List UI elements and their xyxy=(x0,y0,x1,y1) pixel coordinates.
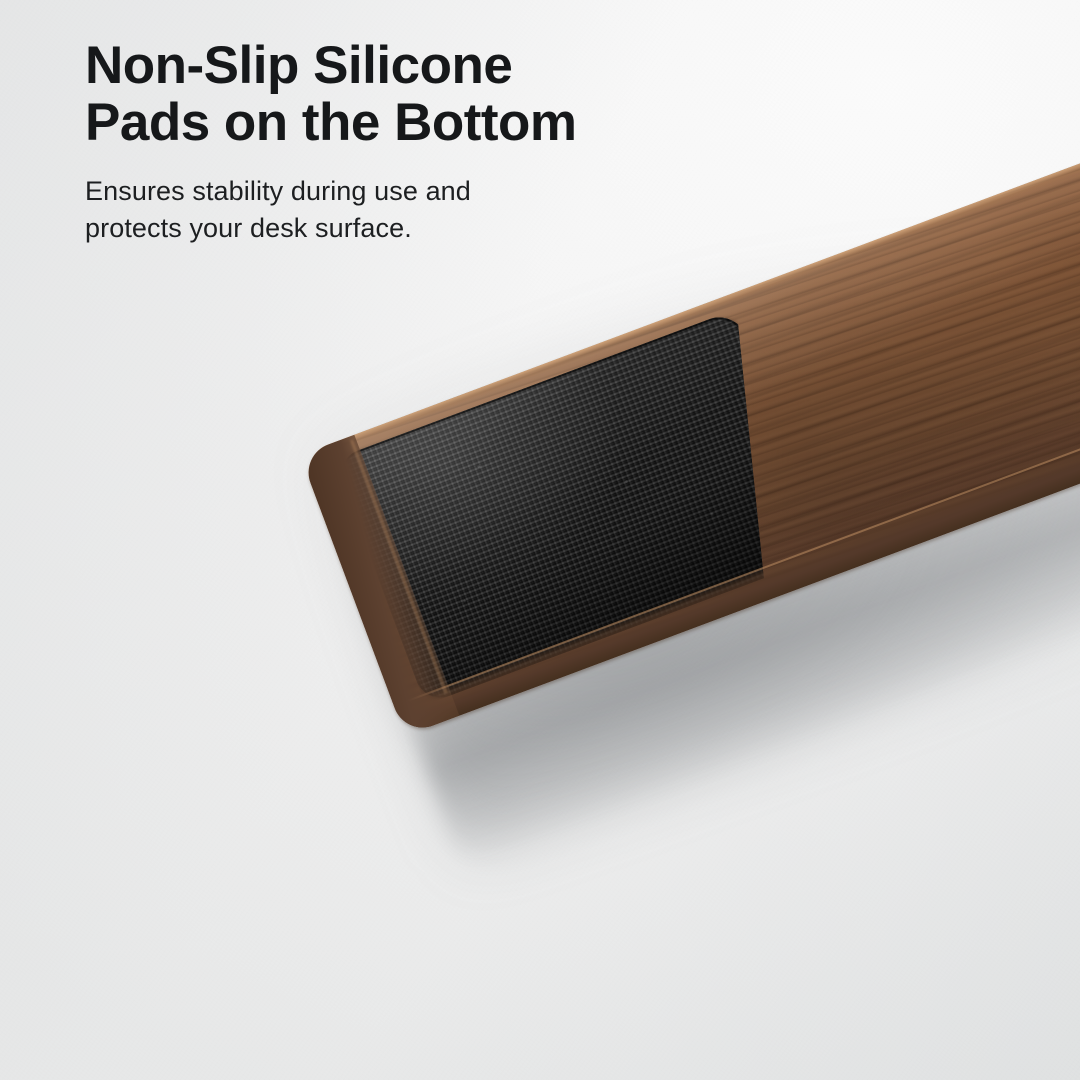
product-feature-image: Non-Slip Silicone Pads on the Bottom Ens… xyxy=(0,0,1080,1080)
headline: Non-Slip Silicone Pads on the Bottom xyxy=(85,38,725,151)
subheading: Ensures stability during use and protect… xyxy=(85,173,725,246)
copy-block: Non-Slip Silicone Pads on the Bottom Ens… xyxy=(85,38,725,247)
